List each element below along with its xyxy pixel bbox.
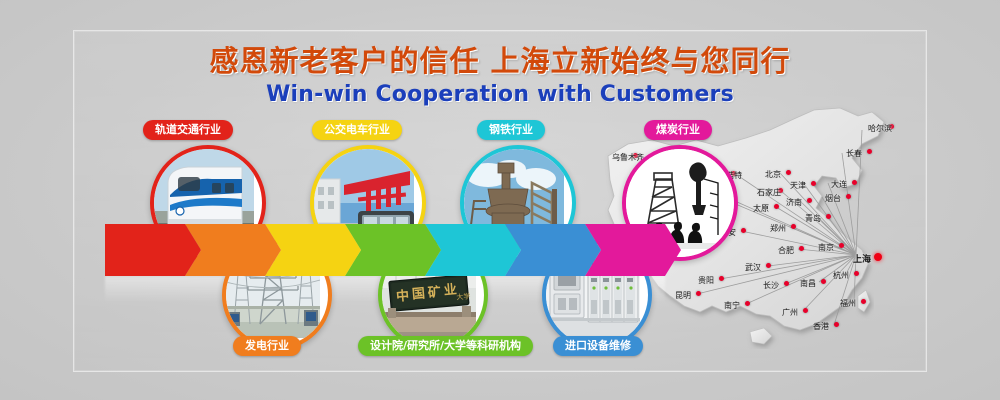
city-dot <box>846 194 851 199</box>
industry-label-power: 发电行业 <box>233 336 301 356</box>
svg-text:业: 业 <box>443 282 457 299</box>
city-dot <box>821 279 826 284</box>
svg-text:中: 中 <box>395 288 409 305</box>
city-label: 烟台 <box>825 193 841 204</box>
city-label: 武汉 <box>745 262 761 273</box>
industry-label-bus: 公交电车行业 <box>312 120 402 140</box>
svg-text:国: 国 <box>411 286 425 302</box>
city-dot <box>826 214 831 219</box>
city-dot <box>803 308 808 313</box>
city-label: 哈尔滨 <box>868 123 892 134</box>
city-label: 南昌 <box>800 278 816 289</box>
city-dot <box>854 271 859 276</box>
city-label: 青岛 <box>805 213 821 224</box>
city-dot <box>791 224 796 229</box>
industry-label-steel: 钢铁行业 <box>477 120 545 140</box>
city-dot <box>741 228 746 233</box>
industry-label-research: 设计院/研究所/大学等科研机构 <box>358 336 533 356</box>
city-label: 郑州 <box>770 223 786 234</box>
ribbon-segment <box>105 224 201 276</box>
city-dot <box>861 299 866 304</box>
city-label: 南京 <box>818 242 834 253</box>
title-block: 感恩新老客户的信任 上海立新始终与您同行 Win-win Cooperation… <box>0 44 1000 107</box>
city-label: 石家庄 <box>757 187 781 198</box>
city-dot <box>834 322 839 327</box>
city-label: 杭州 <box>833 270 849 281</box>
city-dot <box>774 204 779 209</box>
city-dot <box>811 181 816 186</box>
city-dot <box>696 291 701 296</box>
city-label: 太原 <box>753 203 769 214</box>
industry-label-coal: 煤炭行业 <box>644 120 712 140</box>
city-label: 济南 <box>786 197 802 208</box>
city-dot <box>799 246 804 251</box>
industry-label-equipment: 进口设备维修 <box>553 336 643 356</box>
city-label: 广州 <box>782 307 798 318</box>
city-dot <box>745 301 750 306</box>
city-label: 合肥 <box>778 245 794 256</box>
city-label: 上海 <box>853 252 871 265</box>
industry-label-rail: 轨道交通行业 <box>143 120 233 140</box>
svg-text:矿: 矿 <box>427 284 441 301</box>
city-dot <box>852 180 857 185</box>
city-label: 天津 <box>790 180 806 191</box>
city-label: 昆明 <box>675 290 691 301</box>
city-label: 北京 <box>765 169 781 180</box>
city-label: 长沙 <box>763 280 779 291</box>
city-dot <box>867 149 872 154</box>
city-label: 南宁 <box>724 300 740 311</box>
city-label: 大连 <box>831 179 847 190</box>
city-dot <box>839 243 844 248</box>
city-dot <box>784 281 789 286</box>
city-label: 贵阳 <box>698 275 714 286</box>
marketing-banner: 哈尔滨长春乌鲁木齐呼和浩特北京天津大连银川石家庄济南烟台太原青岛西安郑州南京合肥… <box>0 0 1000 400</box>
page-title: 感恩新老客户的信任 上海立新始终与您同行 <box>0 44 1000 78</box>
city-dot <box>807 198 812 203</box>
city-label: 福州 <box>840 298 856 309</box>
city-label: 长春 <box>846 148 862 159</box>
city-dot <box>786 170 791 175</box>
page-subtitle: Win-win Cooperation with Customers <box>0 82 1000 107</box>
svg-text:大学: 大学 <box>456 291 471 301</box>
city-dot <box>766 263 771 268</box>
chevron-ribbon <box>105 224 665 276</box>
city-dot <box>874 253 882 261</box>
city-label: 香港 <box>813 321 829 332</box>
city-dot <box>719 276 724 281</box>
